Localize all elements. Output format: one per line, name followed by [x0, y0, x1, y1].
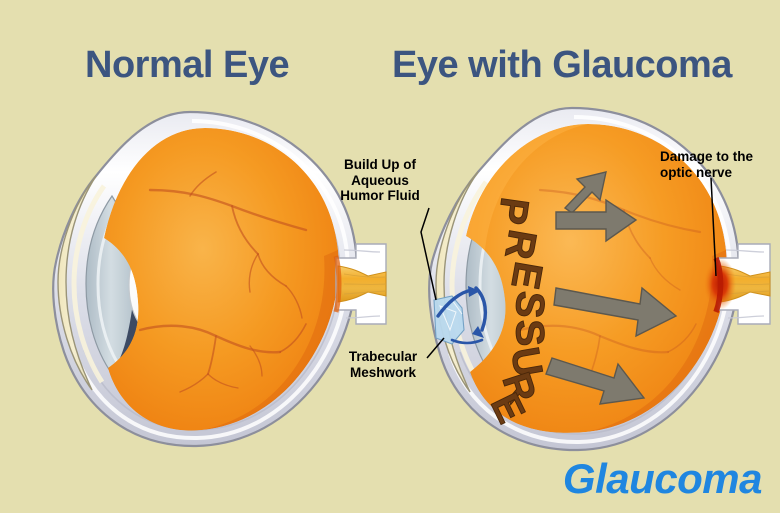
page-title-normal: Normal Eye	[85, 44, 289, 87]
callout-optic-nerve-damage: Damage to the optic nerve	[660, 149, 775, 180]
diagram-canvas: P R E S S U R E Normal Eye Eye with Glau…	[0, 0, 780, 513]
callout-build-up-aqueous-humor: Build Up of Aqueous Humor Fluid	[325, 157, 435, 204]
pressure-letter: S	[507, 319, 552, 347]
page-title-glaucoma: Eye with Glaucoma	[392, 44, 732, 87]
pressure-letter: S	[506, 289, 553, 320]
callout-trabecular-meshwork: Trabecular Meshwork	[333, 349, 433, 380]
glaucoma-wordmark: Glaucoma	[563, 455, 762, 503]
